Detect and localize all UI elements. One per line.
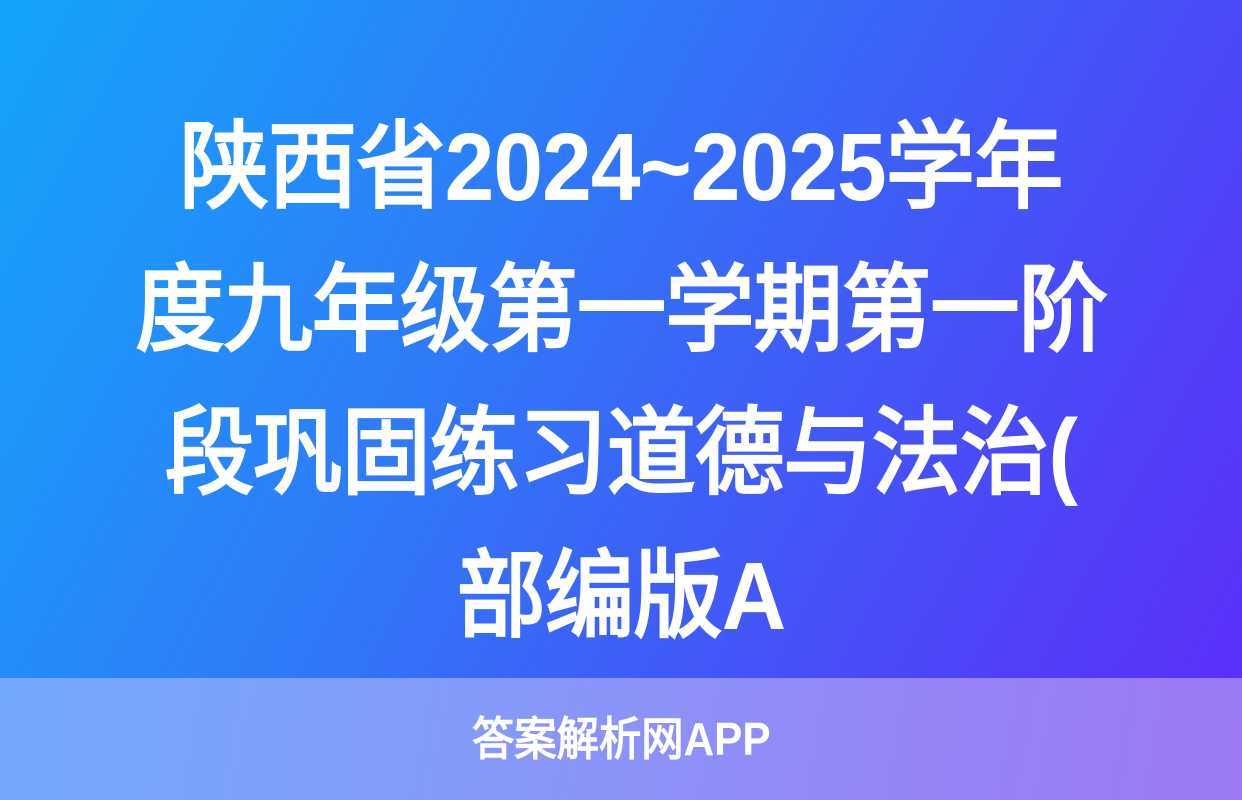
poster-canvas: 陕西省2024~2025学年 度九年级第一学期第一阶 段巩固练习道德与法治( 部… (0, 0, 1242, 800)
title-line-1: 陕西省2024~2025学年 (109, 96, 1134, 239)
title-line-2: 度九年级第一学期第一阶 (109, 239, 1134, 382)
title-line-4: 部编版A (109, 525, 1134, 668)
watermark-banner: 答案解析网APP (0, 678, 1242, 800)
title-line-3: 段巩固练习道德与法治( (109, 382, 1134, 525)
page-title: 陕西省2024~2025学年 度九年级第一学期第一阶 段巩固练习道德与法治( 部… (0, 96, 1242, 668)
watermark-label: 答案解析网APP (472, 716, 771, 762)
